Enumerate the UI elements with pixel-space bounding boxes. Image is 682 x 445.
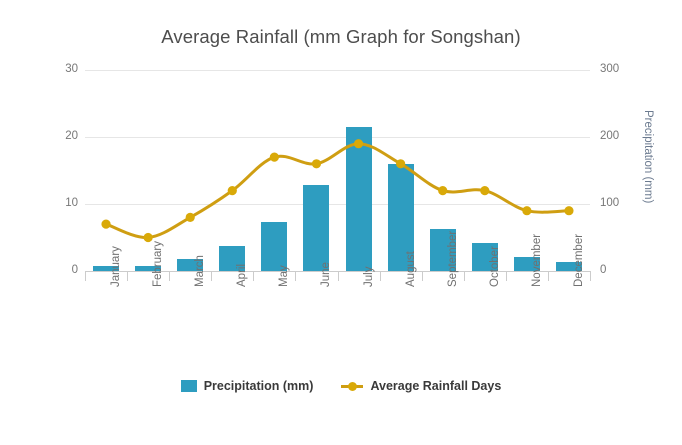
category-tick	[338, 271, 339, 281]
y-axis-left-tick-0: 0	[72, 265, 78, 277]
line-swatch-icon	[341, 380, 363, 392]
category-label-february: February	[153, 241, 165, 287]
category-tick	[464, 271, 465, 281]
chart-title: Average Rainfall (mm Graph for Songshan)	[0, 26, 682, 48]
bar-swatch-icon	[181, 380, 197, 392]
category-label-november: November	[532, 234, 544, 287]
y-axis-left-tick-10: 10	[65, 198, 78, 210]
category-label-july: July	[364, 267, 376, 287]
category-label-september: September	[448, 231, 460, 287]
category-label-october: October	[490, 246, 502, 287]
chart-legend: Precipitation (mm) Average Rainfall Days	[0, 379, 682, 393]
legend-label-rainfall-days: Average Rainfall Days	[370, 379, 501, 393]
y-axis-right-tick-200: 200	[600, 131, 619, 143]
category-tick	[253, 271, 254, 281]
category-label-august: August	[406, 251, 418, 287]
category-tick	[127, 271, 128, 281]
y-axis-left-tick-30: 30	[65, 64, 78, 76]
legend-item-rainfall-days[interactable]: Average Rainfall Days	[341, 379, 501, 393]
category-label-april: April	[237, 264, 249, 287]
category-label-december: December	[574, 234, 586, 287]
legend-label-precipitation: Precipitation (mm)	[204, 379, 314, 393]
legend-item-precipitation[interactable]: Precipitation (mm)	[181, 379, 314, 393]
category-label-may: May	[279, 265, 291, 287]
gridline-20	[85, 137, 590, 138]
category-tick	[548, 271, 549, 281]
gridline-30	[85, 70, 590, 71]
category-tick	[590, 271, 591, 281]
bar-june[interactable]	[303, 185, 329, 271]
category-tick	[422, 271, 423, 281]
category-tick	[295, 271, 296, 281]
y-axis-left-tick-20: 20	[65, 131, 78, 143]
category-tick	[380, 271, 381, 281]
bar-may[interactable]	[261, 222, 287, 271]
y-axis-right-tick-300: 300	[600, 64, 619, 76]
y-axis-right-tick-0: 0	[600, 265, 606, 277]
rainfall-chart: Average Rainfall (mm Graph for Songshan)…	[0, 0, 682, 445]
category-label-march: March	[195, 255, 207, 287]
category-label-january: January	[111, 246, 123, 287]
y-axis-right-tick-100: 100	[600, 198, 619, 210]
category-tick	[169, 271, 170, 281]
category-tick	[506, 271, 507, 281]
category-tick	[85, 271, 86, 281]
y-axis-right-title: Precipitation (mm)	[642, 110, 654, 203]
category-label-june: June	[321, 262, 333, 287]
bar-july[interactable]	[346, 127, 372, 271]
gridline-10	[85, 204, 590, 205]
category-tick	[211, 271, 212, 281]
